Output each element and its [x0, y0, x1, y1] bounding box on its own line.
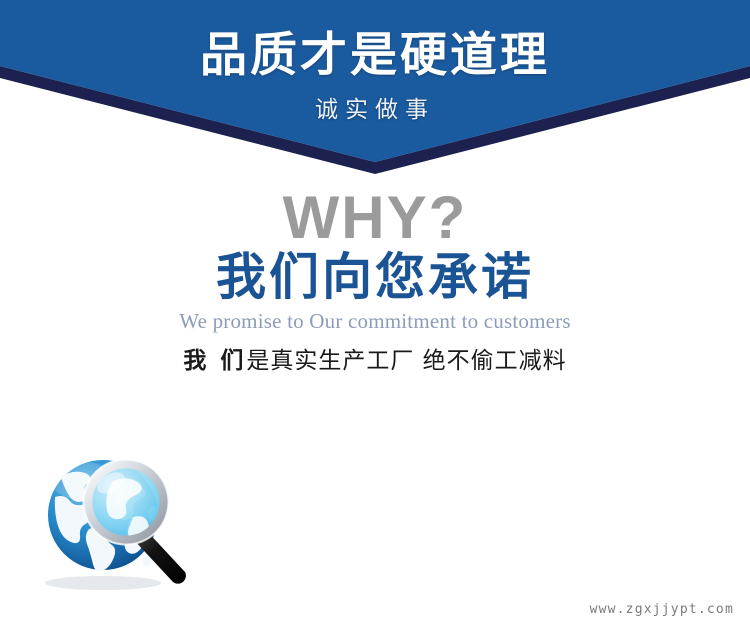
why-headline: WHY?	[0, 186, 750, 250]
promise-headline-cn: 我们向您承诺	[0, 248, 750, 306]
promise-note-rest: 是真实生产工厂 绝不偷工减料	[246, 348, 566, 374]
promise-note-strong: 我 们	[183, 348, 246, 374]
promise-headline-en: We promise to Our commitment to customer…	[0, 309, 750, 334]
promise-note: 我 们是真实生产工厂 绝不偷工减料	[0, 347, 750, 375]
site-watermark: www.zgxjjypt.com	[590, 602, 734, 617]
features-row: 诚信 经营 INTEGRITY MANAGEMENT 品质 保证 Quality…	[0, 425, 750, 600]
globe-magnifier-icon	[25, 435, 215, 595]
promo-banner-page: 品质才是硬道理 诚实做事 WHY? 我们向您承诺 We promise to O…	[0, 0, 750, 626]
chevron-shape	[0, 0, 750, 175]
header-chevron-banner: 品质才是硬道理 诚实做事	[0, 0, 750, 175]
globe-shadow	[45, 576, 161, 590]
chevron-fill	[0, 0, 750, 162]
promise-section: WHY? 我们向您承诺 We promise to Our commitment…	[0, 186, 750, 375]
